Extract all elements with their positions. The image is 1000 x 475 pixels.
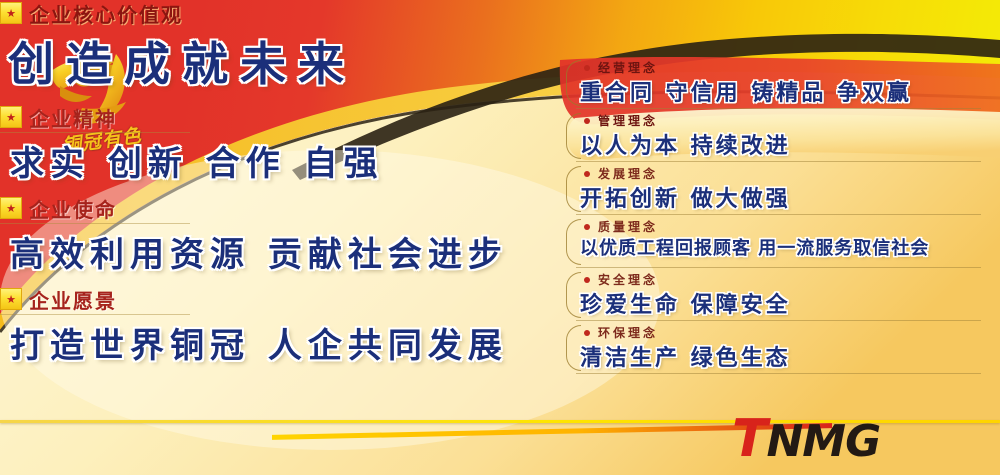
- star-badge-icon: ★: [0, 288, 22, 310]
- bullet-dot-icon: [584, 65, 590, 71]
- heading-underline: [0, 223, 190, 224]
- row-caption: 安全理念: [598, 271, 658, 288]
- bullet-dot-icon: [584, 171, 590, 177]
- culture-banner: 铜冠有色 ★ 企业核心价值观 创造成就未来 ★ 企业精神 求实 创新 合作 自强…: [0, 0, 1000, 475]
- left-column: ★ 企业核心价值观 创造成就未来 ★ 企业精神 求实 创新 合作 自强 ★ 企业…: [0, 0, 420, 377]
- bullet-dot-icon: [584, 277, 590, 283]
- bracket-icon: [566, 60, 581, 106]
- bracket-icon: [566, 272, 581, 318]
- heading-mission: ★ 企业使命: [0, 195, 420, 221]
- bracket-icon: [566, 113, 581, 159]
- wordmark-rest: NMG: [766, 416, 880, 467]
- heading-label: 企业愿景: [29, 285, 117, 314]
- row-value: 以人为本 持续改进: [580, 128, 791, 160]
- row-caption: 发展理念: [598, 165, 658, 182]
- block-spirit: ★ 企业精神 求实 创新 合作 自强: [0, 104, 420, 185]
- row-caption: 经营理念: [598, 59, 658, 76]
- slogan-core-values: 创造成就未来: [8, 28, 420, 94]
- heading-underline: [0, 132, 190, 133]
- row-environment-philosophy: 环保理念 清洁生产 绿色生态: [566, 321, 976, 373]
- bullet-dot-icon: [584, 118, 590, 124]
- heading-spirit: ★ 企业精神: [0, 104, 420, 130]
- slogan-vision: 打造世界铜冠 人企共同发展: [10, 318, 420, 367]
- row-value: 开拓创新 做大做强: [580, 181, 791, 213]
- right-column: 经营理念 重合同 守信用 铸精品 争双赢 管理理念 以人为本 持续改进 发展理念…: [566, 56, 976, 374]
- bracket-icon: [566, 325, 581, 371]
- row-caption: 管理理念: [598, 112, 658, 129]
- row-value: 清洁生产 绿色生态: [580, 340, 791, 372]
- heading-label: 企业核心价值观: [29, 0, 183, 28]
- slogan-spirit: 求实 创新 合作 自强: [10, 136, 420, 185]
- block-core-values: ★ 企业核心价值观 创造成就未来: [0, 0, 420, 94]
- heading-vision: ★ 企业愿景: [0, 286, 420, 312]
- heading-label: 企业使命: [29, 194, 117, 223]
- block-mission: ★ 企业使命 高效利用资源 贡献社会进步: [0, 195, 420, 276]
- tnmg-wordmark: TNMG: [732, 405, 982, 467]
- block-vision: ★ 企业愿景 打造世界铜冠 人企共同发展: [0, 286, 420, 367]
- row-value: 珍爱生命 保障安全: [580, 287, 791, 319]
- wordmark-initial: T: [732, 409, 766, 469]
- heading-underline: [0, 314, 190, 315]
- star-badge-icon: ★: [0, 106, 22, 128]
- star-badge-icon: ★: [0, 197, 22, 219]
- bullet-dot-icon: [584, 330, 590, 336]
- row-caption: 环保理念: [598, 324, 658, 341]
- star-badge-icon: ★: [0, 2, 22, 24]
- bracket-icon: [566, 166, 581, 212]
- row-caption: 质量理念: [598, 218, 658, 235]
- row-safety-philosophy: 安全理念 珍爱生命 保障安全: [566, 268, 976, 320]
- heading-label: 企业精神: [29, 103, 117, 132]
- row-quality-philosophy: 质量理念 以优质工程回报顾客 用一流服务取信社会: [566, 215, 976, 267]
- wordmark-text: TNMG: [732, 417, 880, 464]
- bracket-icon: [566, 219, 581, 265]
- row-development-philosophy: 发展理念 开拓创新 做大做强: [566, 162, 976, 214]
- row-management-philosophy: 管理理念 以人为本 持续改进: [566, 109, 976, 161]
- row-value: 以优质工程回报顾客 用一流服务取信社会: [580, 234, 929, 260]
- row-underline: [576, 373, 981, 374]
- bullet-dot-icon: [584, 224, 590, 230]
- row-business-philosophy: 经营理念 重合同 守信用 铸精品 争双赢: [566, 56, 976, 108]
- heading-core-values: ★ 企业核心价值观: [0, 0, 420, 26]
- slogan-mission: 高效利用资源 贡献社会进步: [10, 227, 420, 276]
- row-value: 重合同 守信用 铸精品 争双赢: [580, 75, 912, 107]
